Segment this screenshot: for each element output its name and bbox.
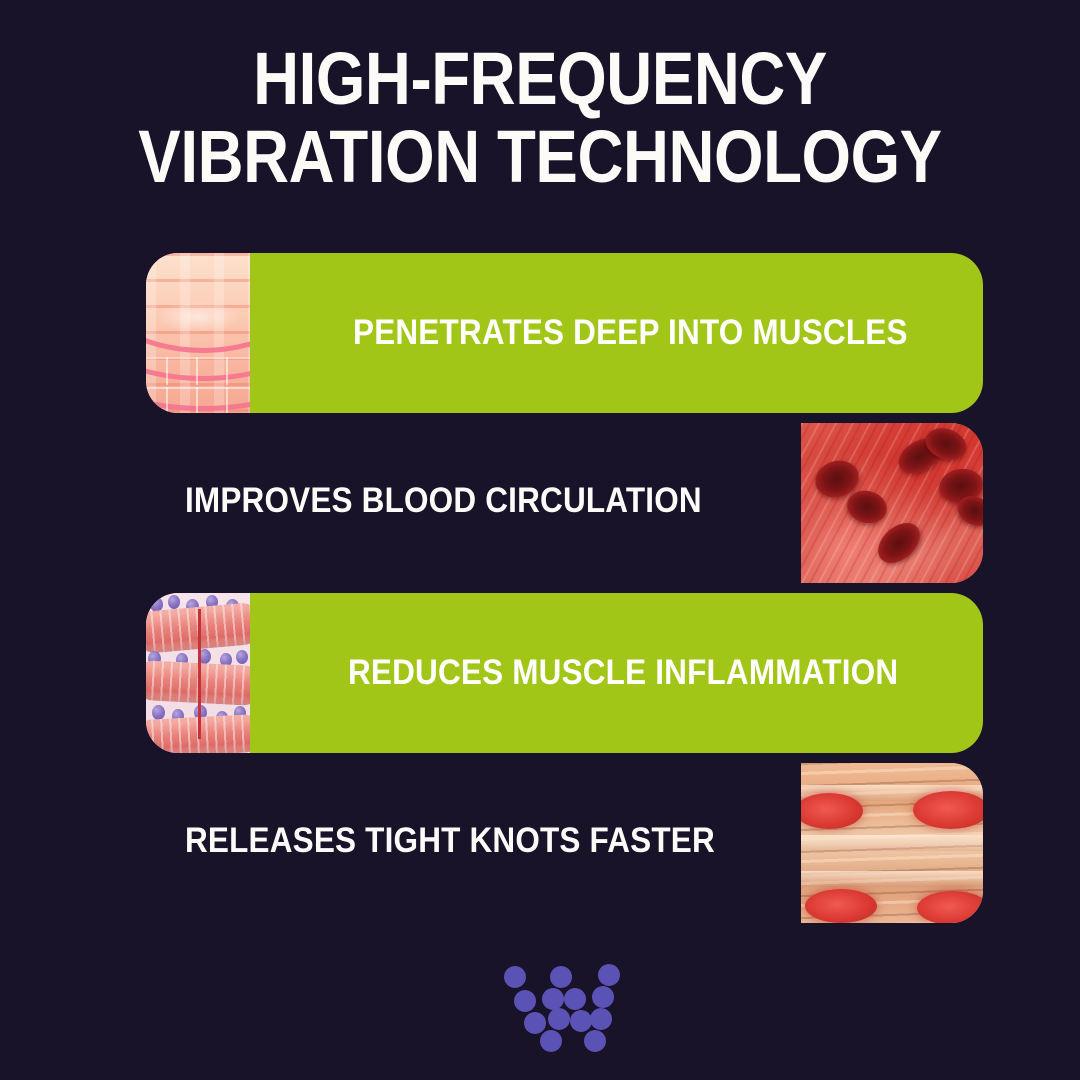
logo-dot <box>598 964 620 986</box>
logo-dot <box>540 1030 562 1052</box>
logo-dot <box>524 1012 546 1034</box>
logo-dot <box>504 966 526 988</box>
logo-dot <box>570 1010 592 1032</box>
benefit-label-3: REDUCES MUSCLE INFLAMMATION <box>348 653 898 693</box>
logo-dot <box>592 986 614 1008</box>
benefit-label-4: RELEASES TIGHT KNOTS FASTER <box>185 821 715 861</box>
logo-dot <box>542 988 564 1010</box>
logo-dot <box>564 988 586 1010</box>
benefit-label-1: PENETRATES DEEP INTO MUSCLES <box>353 313 908 353</box>
benefit-bar-3[interactable]: REDUCES MUSCLE INFLAMMATION <box>245 593 983 753</box>
inflamed-muscle-fibers-image <box>146 593 250 753</box>
benefit-row-1: PENETRATES DEEP INTO MUSCLES <box>0 253 1080 413</box>
w-dot-logo <box>498 962 618 1042</box>
benefit-row-4: RELEASES TIGHT KNOTS FASTER <box>0 763 1080 923</box>
infographic-canvas: HIGH-FREQUENCY VIBRATION TECHNOLOGY PENE… <box>0 0 1080 1080</box>
logo-dot <box>550 966 572 988</box>
page-title: HIGH-FREQUENCY VIBRATION TECHNOLOGY <box>0 40 1080 196</box>
benefit-row-2: IMPROVES BLOOD CIRCULATION <box>0 423 1080 583</box>
logo-dot <box>584 1030 606 1052</box>
red-blood-cells-in-vessel-image <box>801 423 983 583</box>
muscle-knots-trigger-points-image <box>801 763 983 923</box>
logo-dot <box>548 1008 570 1030</box>
benefit-row-3: REDUCES MUSCLE INFLAMMATION <box>0 593 1080 753</box>
logo-dot <box>590 1008 612 1030</box>
logo-dot <box>514 990 536 1012</box>
benefit-label-2: IMPROVES BLOOD CIRCULATION <box>185 481 702 521</box>
title-line-1: HIGH-FREQUENCY <box>76 40 1005 118</box>
vibration-waves-in-muscle-tissue-image <box>146 253 250 413</box>
benefit-bar-1[interactable]: PENETRATES DEEP INTO MUSCLES <box>245 253 983 413</box>
title-line-2: VIBRATION TECHNOLOGY <box>76 118 1005 196</box>
